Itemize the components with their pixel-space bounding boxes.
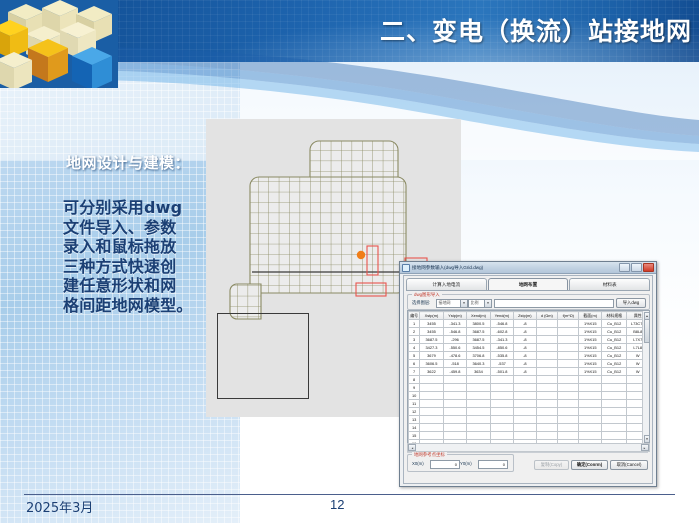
tab-calc-current[interactable]: 计算入地电流 <box>406 278 487 290</box>
table-cell[interactable]: 8 <box>409 376 420 384</box>
table-cell[interactable]: Cu_B12 <box>601 344 627 352</box>
table-cell[interactable] <box>514 376 536 384</box>
footer-rule <box>24 494 675 495</box>
selection-rectangle[interactable] <box>217 313 309 399</box>
scroll-left-icon[interactable]: ◂ <box>408 444 416 451</box>
table-cell[interactable] <box>490 408 513 416</box>
table-cell[interactable]: 1%X15 <box>579 320 601 328</box>
grid-segment-table-inner: 编号Xstp(m)Ystp(m)Xend(m)Yend(m)Zstp(m)d (… <box>408 311 649 444</box>
table-cell[interactable] <box>536 416 557 424</box>
table-cell[interactable] <box>420 416 443 424</box>
scroll-right-icon[interactable]: ▸ <box>641 444 649 451</box>
section-subheading: 地网设计与建模： <box>66 152 190 173</box>
table-cell[interactable]: -8 <box>514 336 536 344</box>
footer-date: 2025年3月 <box>26 497 93 516</box>
table-cell[interactable] <box>558 336 579 344</box>
table-cell[interactable] <box>536 408 557 416</box>
table-cell[interactable] <box>579 384 601 392</box>
dwg-import-group: dwg图形导入 选择图层: 接地网 ▾ 比例 ▾ 导入dwg <box>407 294 650 310</box>
table-row[interactable]: 15 <box>409 432 649 440</box>
table-cell[interactable]: Cu_B12 <box>601 352 627 360</box>
table-cell[interactable]: 3679 <box>420 352 443 360</box>
table-cell[interactable] <box>514 392 536 400</box>
table-cell[interactable] <box>579 416 601 424</box>
table-cell[interactable] <box>467 408 490 416</box>
table-row[interactable]: 73622-459.83634-501.8-81%X15Cu_B12W <box>409 368 649 376</box>
table-cell[interactable] <box>443 416 466 424</box>
column-header-2[interactable]: Ystp(m) <box>443 312 466 320</box>
table-cell[interactable]: -8 <box>514 344 536 352</box>
table-cell[interactable]: 3606.5 <box>420 360 443 368</box>
layer-select-value: 接地网 <box>437 300 460 306</box>
table-cell[interactable] <box>601 416 627 424</box>
table-cell[interactable]: 3706.8 <box>467 352 490 360</box>
table-cell[interactable]: 6 <box>409 360 420 368</box>
table-cell[interactable] <box>579 408 601 416</box>
table-cell[interactable] <box>443 408 466 416</box>
chevron-down-icon: ▾ <box>484 300 491 307</box>
column-header-4[interactable]: Yend(m) <box>490 312 513 320</box>
decorative-cubes-graphic <box>0 0 118 88</box>
table-cell[interactable] <box>601 424 627 432</box>
table-row[interactable]: 33687.5-2963687.5-341.3-81%X15Cu_B12L7X7 <box>409 336 649 344</box>
table-cell[interactable]: -537 <box>490 360 513 368</box>
dialog-title-bar[interactable]: 接地网参数输入(dwg导入Grid.dwg) <box>400 262 656 274</box>
table-cell[interactable]: -546.8 <box>443 328 466 336</box>
table-row[interactable]: 23455-546.83687.5-602.8-81%X15Cu_B12B8L8 <box>409 328 649 336</box>
table-cell[interactable]: 11 <box>409 400 420 408</box>
table-cell[interactable]: 1%X15 <box>579 352 601 360</box>
vertical-scroll-thumb[interactable] <box>644 319 651 343</box>
table-cell[interactable]: 3687.5 <box>467 336 490 344</box>
table-cell[interactable] <box>420 400 443 408</box>
table-cell[interactable]: -8 <box>514 352 536 360</box>
reference-point-marker <box>357 251 365 259</box>
body-line-0: 可分别采用dwg <box>63 198 223 218</box>
table-cell[interactable] <box>490 376 513 384</box>
table-cell[interactable]: Cu_B12 <box>601 360 627 368</box>
reference-point-legend: 地网参考点坐标 <box>412 452 447 458</box>
table-row[interactable]: 11 <box>409 400 649 408</box>
table-cell[interactable] <box>536 344 557 352</box>
table-cell[interactable] <box>579 400 601 408</box>
table-cell[interactable] <box>490 384 513 392</box>
chevron-down-icon: ▾ <box>460 300 467 307</box>
table-cell[interactable] <box>558 320 579 328</box>
table-cell[interactable]: 3427.3 <box>420 344 443 352</box>
table-cell[interactable]: 7 <box>409 368 420 376</box>
table-cell[interactable]: 3634 <box>467 368 490 376</box>
layer-select[interactable]: 接地网 ▾ <box>436 299 468 308</box>
column-header-8[interactable]: 截面(m) <box>579 312 601 320</box>
table-cell[interactable] <box>601 432 627 440</box>
table-header-row: 编号Xstp(m)Ystp(m)Xend(m)Yend(m)Zstp(m)d (… <box>409 312 649 320</box>
column-header-6[interactable]: d (Ωm) <box>536 312 557 320</box>
table-row[interactable]: 12 <box>409 408 649 416</box>
column-header-3[interactable]: Xend(m) <box>467 312 490 320</box>
table-cell[interactable] <box>420 424 443 432</box>
table-cell[interactable] <box>558 360 579 368</box>
dwg-import-legend: dwg图形导入 <box>412 292 442 298</box>
table-cell[interactable] <box>601 384 627 392</box>
table-cell[interactable] <box>558 392 579 400</box>
table-cell[interactable]: -8 <box>514 368 536 376</box>
table-cell[interactable] <box>443 384 466 392</box>
table-row[interactable]: 53679-478.63706.8-535.8-81%X15Cu_B12W <box>409 352 649 360</box>
table-cell[interactable] <box>420 392 443 400</box>
import-dwg-button[interactable]: 导入dwg <box>616 298 646 308</box>
slide-root: 二、变电（换流）站接地网 地网设计与建模： 可分别采用dwg 文件导入、参数 录… <box>0 0 699 523</box>
close-icon[interactable] <box>643 263 654 272</box>
table-cell[interactable]: Cu_B12 <box>601 328 627 336</box>
table-row[interactable]: 8 <box>409 376 649 384</box>
confirm-button[interactable]: 确定(Conrm) <box>571 460 608 470</box>
table-cell[interactable]: 2 <box>409 328 420 336</box>
x0-label: X0(m) <box>412 461 424 466</box>
page-title: 二、变电（换流）站接地网 <box>380 14 688 52</box>
column-header-1[interactable]: Xstp(m) <box>420 312 443 320</box>
table-cell[interactable]: Cu_B12 <box>601 336 627 344</box>
body-line-3: 三种方式快速创 <box>63 257 223 277</box>
layer-label: 选择图层: <box>412 300 430 306</box>
dialog-title: 接地网参数输入(dwg导入Grid.dwg) <box>412 265 619 271</box>
table-cell[interactable] <box>601 408 627 416</box>
table-cell[interactable]: 3454.5 <box>467 344 490 352</box>
reference-point-group: 地网参考点坐标 X0(m) 0 Y0(m) 0 <box>407 454 514 472</box>
y0-input[interactable]: 0 <box>478 460 508 469</box>
table-cell[interactable] <box>536 392 557 400</box>
minimize-icon[interactable] <box>619 263 630 272</box>
table-cell[interactable]: -602.8 <box>490 328 513 336</box>
table-cell[interactable]: -546.8 <box>490 320 513 328</box>
table-cell[interactable]: -8 <box>514 320 536 328</box>
table-cell[interactable]: -501.8 <box>490 368 513 376</box>
column-header-9[interactable]: 材料规格 <box>601 312 627 320</box>
table-cell[interactable] <box>536 424 557 432</box>
table-cell[interactable] <box>536 384 557 392</box>
table-cell[interactable] <box>443 424 466 432</box>
table-cell[interactable]: -850.6 <box>490 344 513 352</box>
table-cell[interactable] <box>601 400 627 408</box>
table-row[interactable]: 13 <box>409 416 649 424</box>
dwg-path-input[interactable] <box>494 299 614 308</box>
table-cell[interactable] <box>514 384 536 392</box>
table-cell[interactable] <box>420 376 443 384</box>
table-cell[interactable] <box>579 424 601 432</box>
table-cell[interactable] <box>601 392 627 400</box>
table-cell[interactable]: 3640.3 <box>467 360 490 368</box>
table-cell[interactable]: Cu_B12 <box>601 368 627 376</box>
table-vertical-scrollbar[interactable]: ▴ ▾ <box>642 311 649 443</box>
table-cell[interactable]: 1%X15 <box>579 368 601 376</box>
table-cell[interactable] <box>558 432 579 440</box>
table-body: 13455-341.33800.5-546.8-81%X15Cu_B12L73C… <box>409 320 649 445</box>
table-cell[interactable] <box>558 424 579 432</box>
table-cell[interactable]: 3687.5 <box>420 336 443 344</box>
table-cell[interactable] <box>514 408 536 416</box>
table-cell[interactable] <box>536 368 557 376</box>
table-cell[interactable] <box>443 400 466 408</box>
table-cell[interactable] <box>558 400 579 408</box>
table-cell[interactable] <box>514 400 536 408</box>
dialog-body: 计算入地电流 地网布置 材料表 dwg图形导入 选择图层: 接地网 ▾ 比例 ▾… <box>403 275 653 484</box>
table-cell[interactable] <box>443 432 466 440</box>
section-body-text: 可分别采用dwg 文件导入、参数 录入和鼠标拖放 三种方式快速创 建任意形状和网… <box>63 198 223 315</box>
table-cell[interactable] <box>467 376 490 384</box>
table-row[interactable]: 63606.5-5183640.3-537-81%X15Cu_B12W <box>409 360 649 368</box>
table-cell[interactable] <box>536 320 557 328</box>
app-icon <box>402 264 410 272</box>
table-cell[interactable] <box>514 432 536 440</box>
table-cell[interactable] <box>536 400 557 408</box>
grounding-grid-parameter-dialog[interactable]: 接地网参数输入(dwg导入Grid.dwg) 计算入地电流 地网布置 材料表 d… <box>399 261 657 487</box>
table-cell[interactable]: 3 <box>409 336 420 344</box>
window-button-group <box>619 263 654 272</box>
table-cell[interactable] <box>490 424 513 432</box>
table-cell[interactable] <box>514 424 536 432</box>
table-cell[interactable]: -478.6 <box>443 352 466 360</box>
x0-input[interactable]: 0 <box>430 460 460 469</box>
table-cell[interactable]: -8 <box>514 328 536 336</box>
table-row[interactable]: 13455-341.33800.5-546.8-81%X15Cu_B12L73C… <box>409 320 649 328</box>
cancel-button[interactable]: 取消(Cancel) <box>610 460 648 470</box>
table-cell[interactable] <box>467 424 490 432</box>
table-cell[interactable] <box>467 384 490 392</box>
table-cell[interactable]: -459.8 <box>443 368 466 376</box>
table-cell[interactable] <box>467 432 490 440</box>
table-cell[interactable] <box>536 328 557 336</box>
table-cell[interactable] <box>558 328 579 336</box>
table-cell[interactable] <box>558 352 579 360</box>
table-cell[interactable]: -8 <box>514 360 536 368</box>
tab-underline <box>406 290 650 291</box>
tab-material-list[interactable]: 材料表 <box>569 278 650 290</box>
table-cell[interactable]: -550.6 <box>443 344 466 352</box>
table-cell[interactable]: -535.8 <box>490 352 513 360</box>
table-cell[interactable] <box>467 400 490 408</box>
table-cell[interactable]: 3687.5 <box>467 328 490 336</box>
table-cell[interactable] <box>601 376 627 384</box>
table-cell[interactable]: -518 <box>443 360 466 368</box>
table-cell[interactable]: 13 <box>409 416 420 424</box>
table-cell[interactable]: 1%X15 <box>579 328 601 336</box>
table-cell[interactable] <box>420 408 443 416</box>
footer-page-number: 12 <box>330 497 344 512</box>
table-cell[interactable] <box>536 432 557 440</box>
table-cell[interactable]: -341.3 <box>443 320 466 328</box>
column-header-7[interactable]: f(m*Ω) <box>558 312 579 320</box>
scale-select[interactable]: 比例 ▾ <box>468 299 492 308</box>
table-cell[interactable]: 4 <box>409 344 420 352</box>
table-cell[interactable] <box>558 408 579 416</box>
table-cell[interactable] <box>579 432 601 440</box>
table-cell[interactable] <box>536 336 557 344</box>
table-cell[interactable] <box>536 352 557 360</box>
table-cell[interactable]: 5 <box>409 352 420 360</box>
table-cell[interactable] <box>467 416 490 424</box>
table-cell[interactable]: 14 <box>409 424 420 432</box>
table-cell[interactable] <box>558 344 579 352</box>
body-line-1: 文件导入、参数 <box>63 218 223 238</box>
table-cell[interactable]: 3800.5 <box>467 320 490 328</box>
table-cell[interactable]: 12 <box>409 408 420 416</box>
column-header-0[interactable]: 编号 <box>409 312 420 320</box>
table-cell[interactable] <box>536 376 557 384</box>
table-cell[interactable]: 1%X15 <box>579 336 601 344</box>
table-cell[interactable] <box>514 416 536 424</box>
table-cell[interactable]: Cu_B12 <box>601 320 627 328</box>
table-cell[interactable] <box>558 376 579 384</box>
maximize-icon[interactable] <box>631 263 642 272</box>
table-cell[interactable]: 10 <box>409 392 420 400</box>
table-cell[interactable] <box>467 392 490 400</box>
scale-select-value: 比例 <box>469 300 484 306</box>
table-cell[interactable]: 3455 <box>420 320 443 328</box>
body-line-5: 格间距地网模型。 <box>63 296 223 316</box>
table-cell[interactable] <box>579 376 601 384</box>
table-cell[interactable]: 1%X15 <box>579 344 601 352</box>
body-line-2: 录入和鼠标拖放 <box>63 237 223 257</box>
table-cell[interactable]: 9 <box>409 384 420 392</box>
body-line-4: 建任意形状和网 <box>63 276 223 296</box>
table-cell[interactable] <box>579 392 601 400</box>
table-row[interactable]: 43427.3-550.63454.5-850.6-81%X15Cu_B12L7… <box>409 344 649 352</box>
table-cell[interactable] <box>490 400 513 408</box>
table-cell[interactable]: 15 <box>409 432 420 440</box>
table-cell[interactable]: -341.3 <box>490 336 513 344</box>
table-row[interactable]: 10 <box>409 392 649 400</box>
table-cell[interactable] <box>558 368 579 376</box>
table-cell[interactable] <box>558 416 579 424</box>
table-cell[interactable]: 1%X15 <box>579 360 601 368</box>
table-cell[interactable]: 1 <box>409 320 420 328</box>
table-cell[interactable] <box>490 392 513 400</box>
column-header-5[interactable]: Zstp(m) <box>514 312 536 320</box>
table-cell[interactable] <box>490 432 513 440</box>
table-cell[interactable] <box>420 432 443 440</box>
table-cell[interactable] <box>558 384 579 392</box>
table-cell[interactable]: -296 <box>443 336 466 344</box>
table-cell[interactable] <box>536 360 557 368</box>
tab-grid-layout[interactable]: 地网布置 <box>488 278 569 290</box>
table-cell[interactable]: 3622 <box>420 368 443 376</box>
table-cell[interactable]: 3455 <box>420 328 443 336</box>
table-cell[interactable] <box>443 376 466 384</box>
copy-button[interactable]: 复制(Copy) <box>534 460 569 470</box>
y0-label: Y0(m) <box>460 461 472 466</box>
scroll-down-icon[interactable]: ▾ <box>644 435 651 443</box>
table-cell[interactable] <box>490 416 513 424</box>
table-row[interactable]: 14 <box>409 424 649 432</box>
table-cell[interactable] <box>443 392 466 400</box>
table-cell[interactable] <box>420 384 443 392</box>
table-row[interactable]: 9 <box>409 384 649 392</box>
grid-segment-table[interactable]: 编号Xstp(m)Ystp(m)Xend(m)Yend(m)Zstp(m)d (… <box>407 310 650 444</box>
